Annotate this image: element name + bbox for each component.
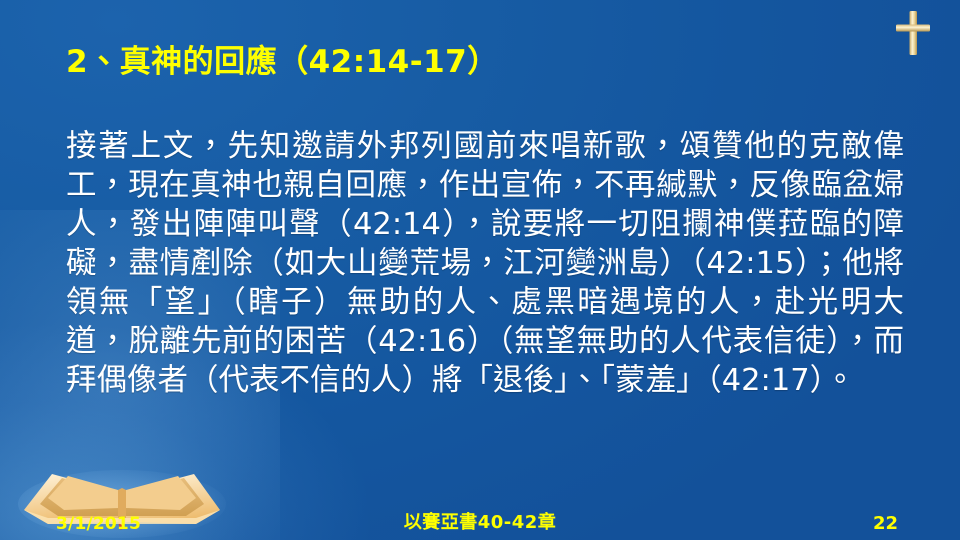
cross-icon bbox=[890, 8, 936, 58]
slide-title: 2、真神的回應（42:14-17） bbox=[66, 44, 886, 81]
footer-center-title: 以賽亞書40-42章 bbox=[0, 508, 960, 534]
slide-canvas: 2、真神的回應（42:14-17） 接著上文，先知邀請外邦列國前來唱新歌，頌贊他… bbox=[0, 0, 960, 540]
footer-page-number: 22 bbox=[873, 513, 898, 534]
slide-body-text: 接著上文，先知邀請外邦列國前來唱新歌，頌贊他的克敵偉工，現在真神也親自回應，作出… bbox=[66, 127, 904, 400]
